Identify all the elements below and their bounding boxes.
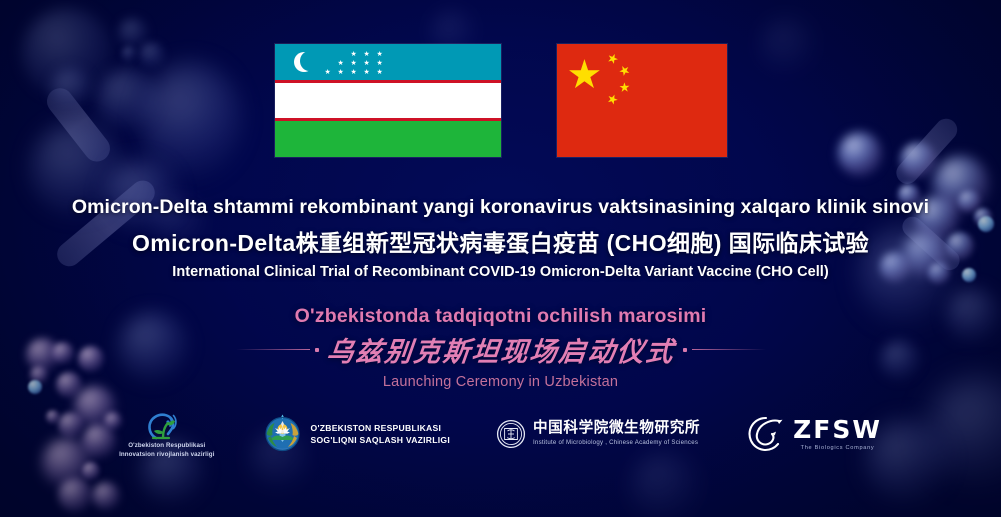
innovation-ministry-line2: Innovatsion rivojlanish vazirligi bbox=[119, 451, 214, 459]
cn-flag-small-star-2: ★ bbox=[616, 62, 633, 79]
decorative-rule-right bbox=[683, 348, 766, 352]
ceremony-english: Launching Ceremony in Uzbekistan bbox=[0, 374, 1001, 390]
innovation-ministry-line1: O'zbekiston Respublikasi bbox=[119, 442, 214, 450]
ceremony-uzbek: O'zbekistonda tadqiqotni ochilish marosi… bbox=[0, 305, 1001, 328]
zfsw-tagline: The Biologics Company bbox=[793, 445, 882, 451]
ceremony-block: O'zbekistonda tadqiqotni ochilish marosi… bbox=[0, 305, 1001, 390]
ceremony-chinese: 乌兹别克斯坦现场启动仪式 bbox=[324, 330, 676, 369]
decorative-rule-left bbox=[236, 348, 319, 352]
uz-flag-stars: ★ ★ ★ ★ ★ ★ ★ ★ ★ ★ ★ ★ bbox=[319, 51, 399, 75]
cas-english-name: Institute of Microbiology , Chinese Acad… bbox=[533, 439, 700, 446]
logo-ministry-of-health: O'ZBEKISTON RESPUBLIKASI SOG'LIQNI SAQLA… bbox=[261, 412, 450, 455]
title-uzbek: Omicron-Delta shtammi rekombinant yangi … bbox=[0, 196, 1001, 219]
china-flag: ★ ★ ★ ★ ★ bbox=[557, 44, 727, 157]
flag-row: ★ ★ ★ ★ ★ ★ ★ ★ ★ ★ ★ ★ ★ ★ ★ ★ ★ bbox=[0, 44, 1001, 157]
cas-chinese-name: 中国科学院微生物研究所 bbox=[533, 421, 700, 436]
innovation-ministry-caption: O'zbekiston Respublikasi Innovatsion riv… bbox=[119, 442, 214, 459]
cas-seal-icon bbox=[496, 419, 526, 449]
cn-flag-small-star-3: ★ bbox=[616, 80, 632, 95]
title-chinese: Omicron-Delta株重组新型冠状病毒蛋白疫苗 (CHO细胞) 国际临床试… bbox=[0, 224, 1001, 258]
logo-institute-of-microbiology-cas: 中国科学院微生物研究所 Institute of Microbiology , … bbox=[496, 419, 700, 449]
title-english: International Clinical Trial of Recombin… bbox=[0, 264, 1001, 280]
cn-flag-small-star-1: ★ bbox=[604, 50, 620, 67]
health-ministry-line1: O'ZBEKISTON RESPUBLIKASI bbox=[311, 422, 450, 434]
cas-caption: 中国科学院微生物研究所 Institute of Microbiology , … bbox=[533, 421, 700, 445]
cn-flag-small-star-4: ★ bbox=[605, 93, 619, 106]
uzbekistan-flag: ★ ★ ★ ★ ★ ★ ★ ★ ★ ★ ★ ★ bbox=[275, 44, 501, 157]
crescent-moon-icon bbox=[294, 52, 314, 72]
title-block: Omicron-Delta shtammi rekombinant yangi … bbox=[0, 196, 1001, 280]
ceremony-chinese-row: 乌兹别克斯坦现场启动仪式 bbox=[0, 330, 1001, 369]
logo-strip: O'zbekiston Respublikasi Innovatsion riv… bbox=[0, 408, 1001, 459]
presentation-slide: ★ ★ ★ ★ ★ ★ ★ ★ ★ ★ ★ ★ ★ ★ ★ ★ ★ Omicro… bbox=[0, 0, 1001, 517]
zfsw-swoosh-icon bbox=[746, 415, 786, 453]
health-ministry-line2: SOG'LIQNI SAQLASH VAZIRLIGI bbox=[311, 434, 450, 446]
lightbulb-sprout-icon bbox=[144, 408, 190, 440]
zfsw-wordmark: ZFSW bbox=[793, 417, 882, 442]
zfsw-caption: ZFSW The Biologics Company bbox=[793, 417, 882, 451]
uzbekistan-coat-of-arms-icon bbox=[261, 412, 304, 455]
logo-zfsw: ZFSW The Biologics Company bbox=[746, 415, 882, 453]
cn-flag-large-star: ★ bbox=[567, 55, 603, 95]
logo-ministry-of-innovative-development: O'zbekiston Respublikasi Innovatsion riv… bbox=[119, 408, 214, 459]
uz-flag-green-stripe bbox=[275, 121, 501, 157]
health-ministry-caption: O'ZBEKISTON RESPUBLIKASI SOG'LIQNI SAQLA… bbox=[311, 422, 450, 446]
uz-flag-white-stripe bbox=[275, 83, 501, 118]
